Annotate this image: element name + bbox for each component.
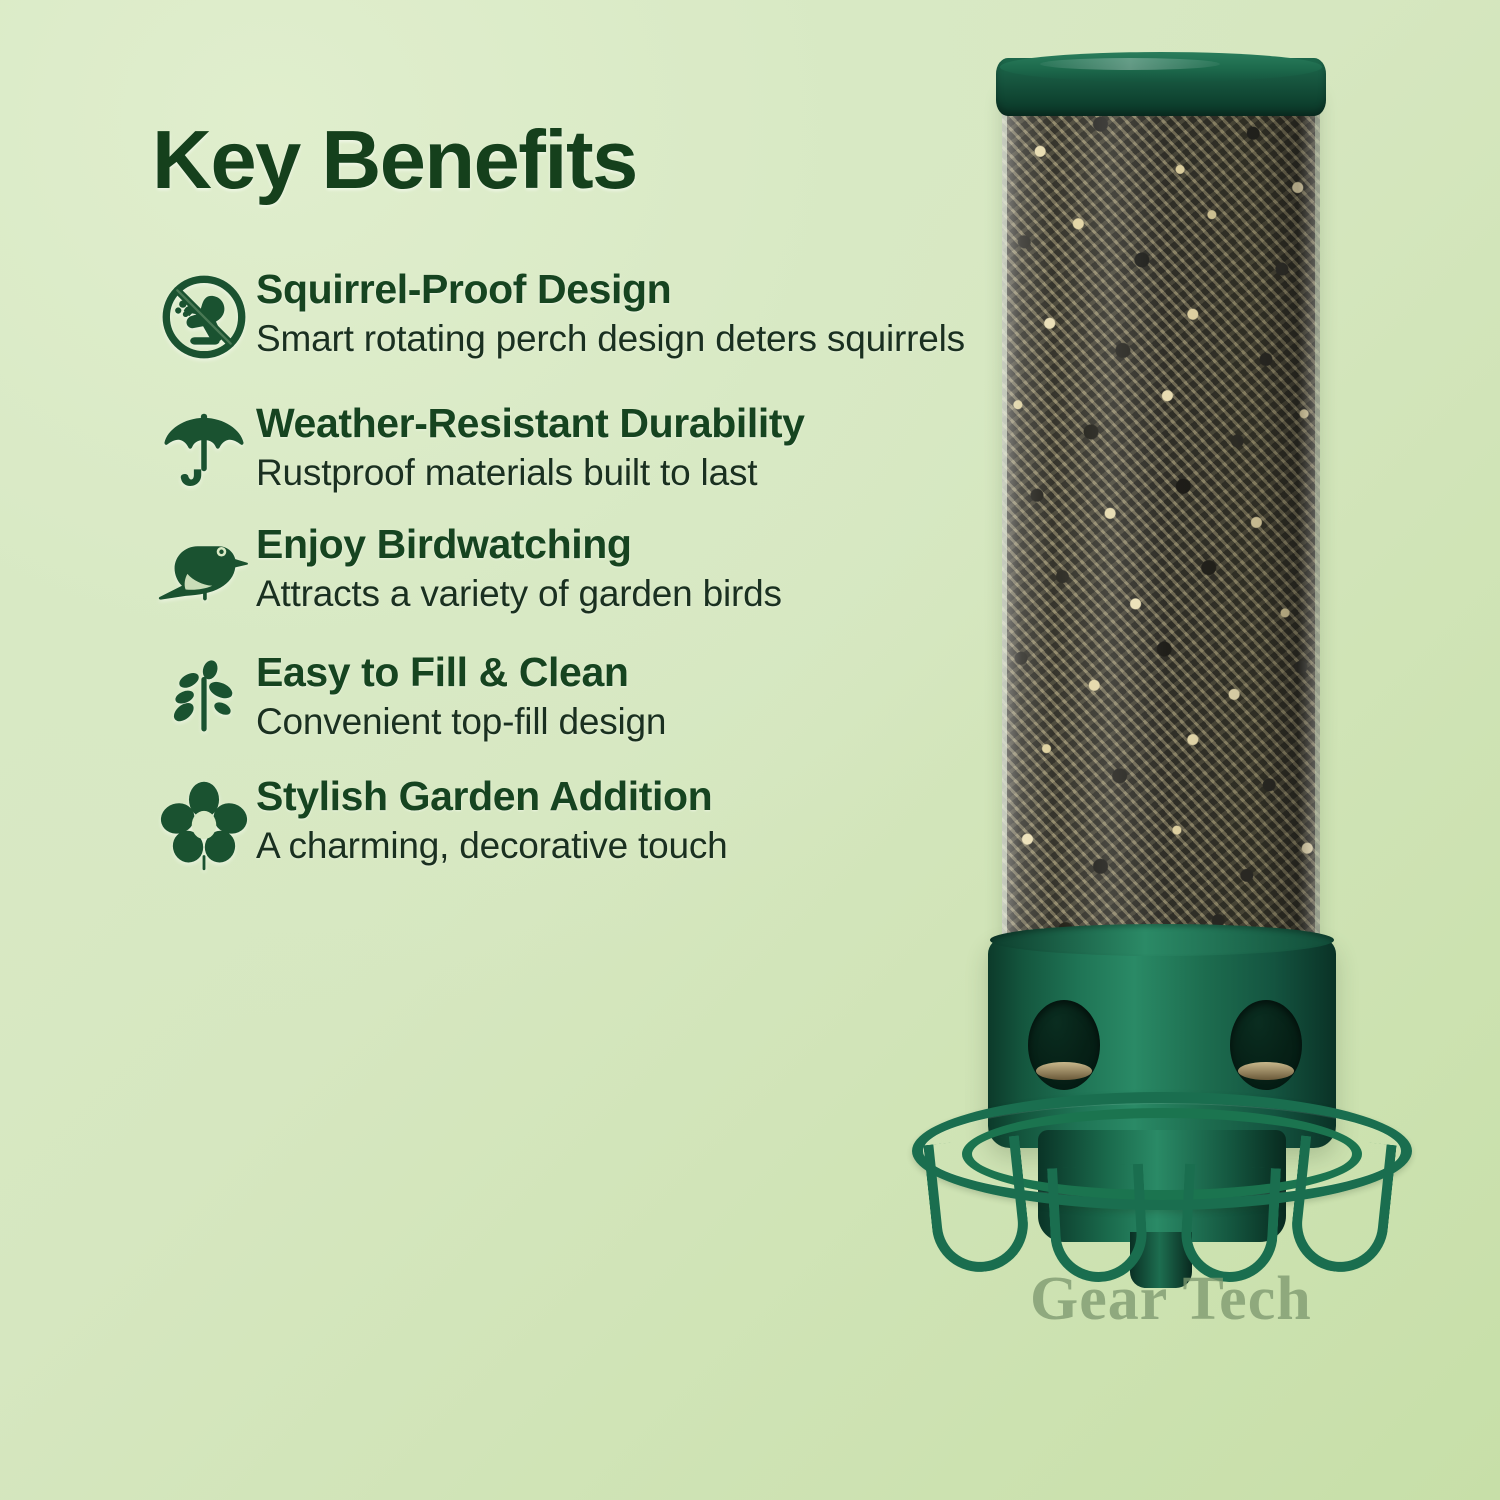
umbrella-icon bbox=[152, 401, 256, 493]
benefit-text-block: Squirrel-Proof Design Smart rotating per… bbox=[256, 267, 972, 361]
benefit-text-block: Weather-Resistant Durability Rustproof m… bbox=[256, 401, 972, 495]
benefit-description: A charming, decorative touch bbox=[256, 824, 972, 868]
benefit-title: Squirrel-Proof Design bbox=[256, 267, 972, 313]
benefit-item-stylish-garden: Stylish Garden Addition A charming, deco… bbox=[152, 774, 972, 868]
benefit-item-squirrel-proof: Squirrel-Proof Design Smart rotating per… bbox=[152, 267, 972, 361]
benefit-title: Weather-Resistant Durability bbox=[256, 401, 972, 447]
benefit-text-block: Stylish Garden Addition A charming, deco… bbox=[256, 774, 972, 868]
benefit-text-block: Easy to Fill & Clean Convenient top-fill… bbox=[256, 650, 972, 744]
benefit-description: Rustproof materials built to last bbox=[256, 451, 972, 495]
flower-icon bbox=[152, 774, 256, 866]
benefits-panel: Key Benefits bbox=[152, 118, 972, 868]
benefit-description: Attracts a variety of garden birds bbox=[256, 572, 972, 616]
brand-watermark: Gear Tech bbox=[1030, 1264, 1312, 1335]
benefits-list: Squirrel-Proof Design Smart rotating per… bbox=[152, 267, 972, 868]
benefit-description: Smart rotating perch design deters squir… bbox=[256, 317, 972, 361]
infographic-canvas: Key Benefits bbox=[0, 0, 1500, 1500]
product-image-bird-feeder bbox=[890, 40, 1435, 1360]
feeding-port-right bbox=[1230, 1000, 1302, 1090]
bird-seed-fill bbox=[1002, 88, 1320, 993]
benefit-item-birdwatching: Enjoy Birdwatching Attracts a variety of… bbox=[152, 522, 972, 616]
feeder-seed-tube bbox=[1002, 88, 1320, 993]
sprout-icon bbox=[152, 650, 256, 742]
feeding-port-left bbox=[1028, 1000, 1100, 1090]
benefit-item-easy-fill-clean: Easy to Fill & Clean Convenient top-fill… bbox=[152, 650, 972, 744]
benefit-title: Easy to Fill & Clean bbox=[256, 650, 972, 696]
benefit-item-weather-resistant: Weather-Resistant Durability Rustproof m… bbox=[152, 401, 972, 495]
feeder-base-lip bbox=[990, 924, 1334, 956]
bird-icon bbox=[152, 522, 256, 614]
lid-highlight bbox=[1040, 58, 1220, 70]
port-seed-tray bbox=[1238, 1062, 1294, 1080]
benefit-title: Stylish Garden Addition bbox=[256, 774, 972, 820]
benefit-text-block: Enjoy Birdwatching Attracts a variety of… bbox=[256, 522, 972, 616]
no-squirrel-icon bbox=[152, 267, 256, 359]
page-title: Key Benefits bbox=[152, 118, 972, 201]
perch-arm bbox=[923, 1135, 1032, 1276]
benefit-title: Enjoy Birdwatching bbox=[256, 522, 972, 568]
benefit-description: Convenient top-fill design bbox=[256, 700, 972, 744]
perch-arm bbox=[1287, 1135, 1396, 1276]
port-seed-tray bbox=[1036, 1062, 1092, 1080]
